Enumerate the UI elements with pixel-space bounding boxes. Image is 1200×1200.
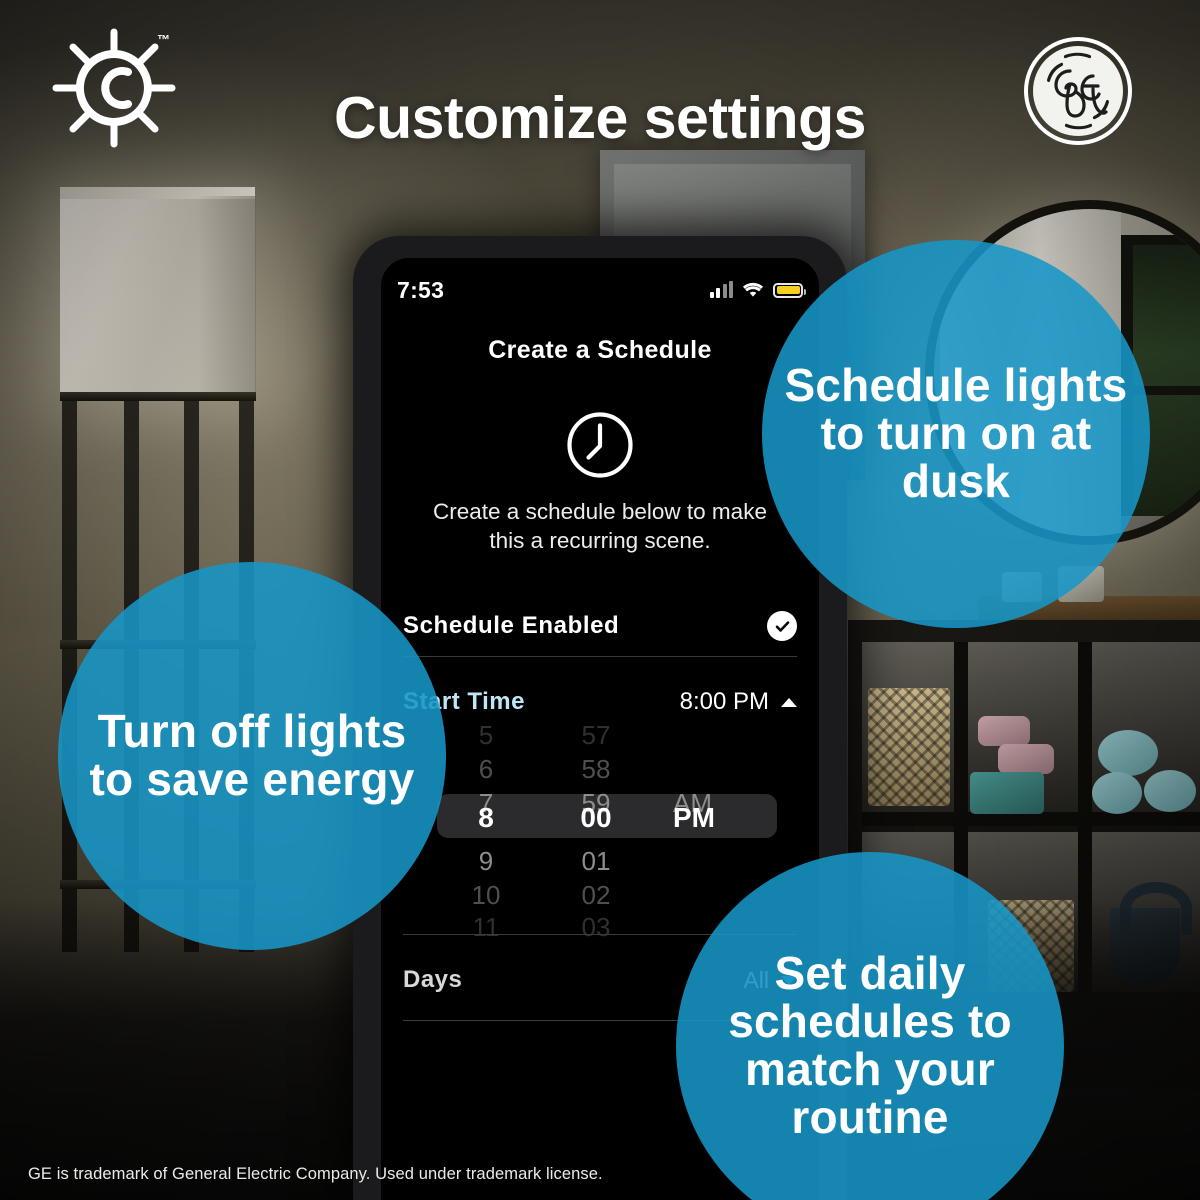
callout-turn-off-energy: Turn off lights to save energy: [58, 562, 446, 950]
status-bar-time: 7:53: [397, 277, 444, 304]
hour-option[interactable]: 9: [431, 846, 541, 877]
divider-1: [403, 656, 797, 657]
chevron-up-icon[interactable]: [781, 698, 797, 707]
time-picker[interactable]: 5 6 7 8 9 10 11 57 58 59 00 01 02: [431, 716, 799, 928]
clock-icon: [563, 408, 637, 487]
wifi-icon: [742, 282, 764, 299]
status-bar: 7:53: [381, 276, 819, 304]
trademark-footnote: GE is trademark of General Electric Comp…: [28, 1165, 603, 1184]
minute-option[interactable]: 58: [541, 754, 651, 785]
cellular-signal-icon: [710, 282, 734, 298]
poster-canvas: 7:53 Create a Schedule: [0, 0, 1200, 1200]
minute-option[interactable]: 57: [541, 720, 651, 751]
schedule-enabled-label: Schedule Enabled: [403, 612, 619, 640]
battery-low-power-icon: [773, 283, 803, 298]
general-electric-monogram: [1023, 36, 1133, 146]
minute-option[interactable]: 02: [541, 880, 651, 911]
hour-option[interactable]: 5: [431, 720, 541, 751]
start-time-value: 8:00 PM: [680, 688, 769, 716]
hour-option[interactable]: 11: [431, 912, 541, 943]
minute-option[interactable]: 01: [541, 846, 651, 877]
schedule-description: Create a schedule below to make this a r…: [419, 498, 781, 556]
trademark-symbol: ™: [157, 32, 170, 47]
time-picker-minutes-column[interactable]: 57 58 59 00 01 02 03: [541, 716, 651, 928]
time-picker-hours-column[interactable]: 5 6 7 8 9 10 11: [431, 716, 541, 928]
minute-option[interactable]: 03: [541, 912, 651, 943]
schedule-enabled-row[interactable]: Schedule Enabled: [403, 603, 797, 649]
start-time-value-group[interactable]: 8:00 PM: [680, 688, 797, 716]
days-label: Days: [403, 966, 462, 994]
callout-schedule-dusk: Schedule lights to turn on at dusk: [762, 240, 1150, 628]
hour-option[interactable]: 10: [431, 880, 541, 911]
hour-option-selected[interactable]: 8: [431, 802, 541, 834]
hour-option[interactable]: 6: [431, 754, 541, 785]
screen-title: Create a Schedule: [381, 336, 819, 365]
minute-option-selected[interactable]: 00: [541, 802, 651, 834]
meridiem-option-pm-selected[interactable]: PM: [651, 802, 776, 834]
checkmark-circle-icon[interactable]: [767, 611, 797, 641]
